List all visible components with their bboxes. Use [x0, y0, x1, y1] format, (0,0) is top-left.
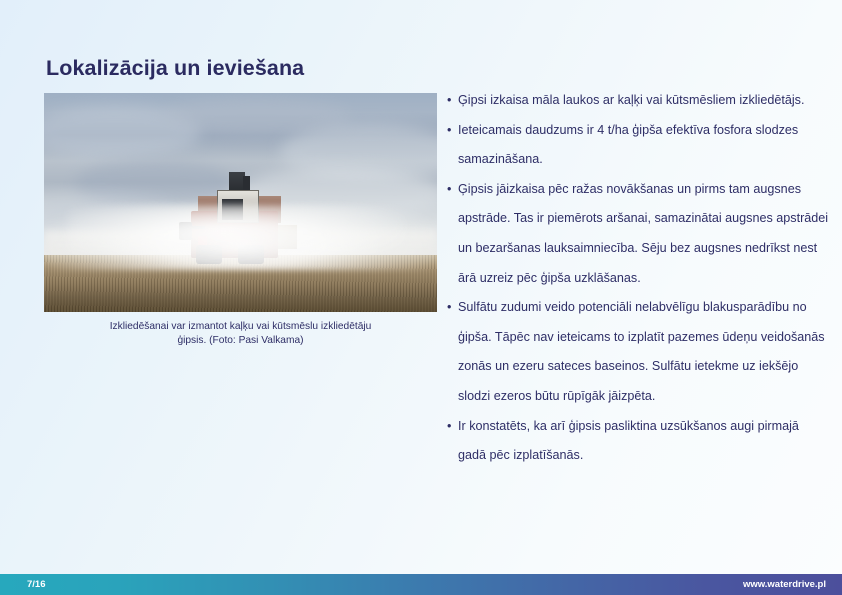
photo-figure: Izkliedēšanai var izmantot kaļķu vai kūt… [44, 93, 437, 348]
bullet-list: • Ģipsi izkaisa māla laukos ar kaļķi vai… [447, 86, 829, 471]
list-item: • Ir konstatēts, ka arī ģipsis pasliktin… [447, 412, 829, 471]
field-spreader-photo [44, 93, 437, 312]
photo-caption: Izkliedēšanai var izmantot kaļķu vai kūt… [44, 320, 437, 348]
list-item-text: Sulfātu zudumi veido potenciāli nelabvēl… [458, 293, 829, 411]
bullet-marker-icon: • [447, 116, 458, 146]
bullet-marker-icon: • [447, 175, 458, 205]
photo-caption-line-2: ģipsis. (Foto: Pasi Valkama) [44, 334, 437, 348]
bullet-marker-icon: • [447, 86, 458, 116]
list-item: • Ģipsis jāizkaisa pēc ražas novākšanas … [447, 175, 829, 293]
page-title: Lokalizācija un ieviešana [46, 56, 304, 81]
slide-footer: 7/16 www.waterdrive.pl [0, 574, 842, 595]
presentation-slide: Lokalizācija un ieviešana [0, 0, 842, 595]
bullet-marker-icon: • [447, 412, 458, 442]
list-item-text: Ģipsis jāizkaisa pēc ražas novākšanas un… [458, 175, 829, 293]
list-item-text: Ieteicamais daudzums ir 4 t/ha ģipša efe… [458, 116, 829, 175]
dust-plume-inner [68, 207, 406, 255]
photo-caption-line-1: Izkliedēšanai var izmantot kaļķu vai kūt… [44, 320, 437, 334]
page-indicator: 7/16 [27, 574, 46, 595]
list-item: • Ieteicamais daudzums ir 4 t/ha ģipša e… [447, 116, 829, 175]
bullet-marker-icon: • [447, 293, 458, 323]
list-item: • Sulfātu zudumi veido potenciāli nelabv… [447, 293, 829, 411]
list-item: • Ģipsi izkaisa māla laukos ar kaļķi vai… [447, 86, 829, 116]
list-item-text: Ir konstatēts, ka arī ģipsis pasliktina … [458, 412, 829, 471]
website-link[interactable]: www.waterdrive.pl [743, 574, 826, 595]
list-item-text: Ģipsi izkaisa māla laukos ar kaļķi vai k… [458, 86, 829, 116]
